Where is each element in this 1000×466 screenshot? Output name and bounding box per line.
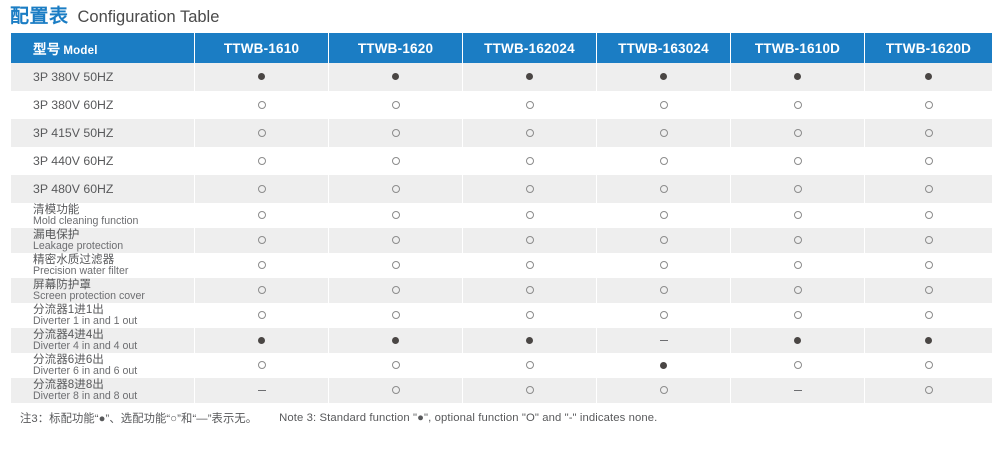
symbol-hollow-circle — [925, 185, 933, 193]
symbol-hollow-circle — [925, 211, 933, 219]
cell-hollow — [597, 147, 730, 175]
row-label: 3P 380V 60HZ — [11, 91, 194, 119]
cell-hollow — [195, 119, 328, 147]
symbol-hollow-circle — [258, 261, 266, 269]
row-label: 分流器4进4出Diverter 4 in and 4 out — [11, 328, 194, 353]
symbol-filled-circle — [925, 337, 932, 344]
column-header-model-cn: 型号 — [33, 42, 60, 57]
symbol-hollow-circle — [794, 236, 802, 244]
symbol-filled-circle — [526, 73, 533, 80]
cell-hollow — [731, 119, 864, 147]
symbol-hollow-circle — [660, 311, 668, 319]
cell-filled — [329, 63, 462, 91]
cell-hollow — [329, 353, 462, 378]
symbol-hollow-circle — [258, 101, 266, 109]
cell-filled — [731, 63, 864, 91]
column-header-model-2: TTWB-1620 — [329, 33, 462, 63]
cell-hollow — [731, 228, 864, 253]
row-label: 精密水质过滤器Precision water filter — [11, 253, 194, 278]
cell-hollow — [329, 91, 462, 119]
cell-hollow — [463, 228, 596, 253]
symbol-hollow-circle — [392, 261, 400, 269]
column-header-model-4: TTWB-163024 — [597, 33, 730, 63]
cell-hollow — [329, 278, 462, 303]
column-header-model-3: TTWB-162024 — [463, 33, 596, 63]
table-body: 3P 380V 50HZ3P 380V 60HZ3P 415V 50HZ3P 4… — [11, 63, 992, 403]
symbol-hollow-circle — [392, 236, 400, 244]
symbol-hollow-circle — [526, 101, 534, 109]
symbol-hollow-circle — [925, 261, 933, 269]
column-header-model: 型号Model — [11, 33, 194, 63]
symbol-dash — [258, 390, 266, 392]
row-label: 分流器8进8出Diverter 8 in and 8 out — [11, 378, 194, 403]
cell-hollow — [731, 253, 864, 278]
table-row: 分流器4进4出Diverter 4 in and 4 out — [11, 328, 992, 353]
cell-hollow — [865, 228, 992, 253]
symbol-hollow-circle — [258, 157, 266, 165]
symbol-filled-circle — [660, 362, 667, 369]
symbol-hollow-circle — [526, 286, 534, 294]
symbol-hollow-circle — [392, 157, 400, 165]
page-title-en: Configuration Table — [78, 9, 220, 26]
cell-hollow — [329, 253, 462, 278]
cell-hollow — [329, 303, 462, 328]
footnote: 注3：标配功能“●”、选配功能“○”和“—”表示无。 Note 3: Stand… — [10, 403, 990, 426]
row-label-en: Mold cleaning function — [33, 216, 194, 227]
table-row: 屏幕防护罩Screen protection cover — [11, 278, 992, 303]
symbol-hollow-circle — [526, 211, 534, 219]
cell-hollow — [463, 253, 596, 278]
cell-hollow — [865, 119, 992, 147]
symbol-hollow-circle — [660, 386, 668, 394]
cell-hollow — [195, 253, 328, 278]
cell-hollow — [463, 91, 596, 119]
row-label-en: Diverter 8 in and 8 out — [33, 391, 194, 402]
cell-hollow — [597, 119, 730, 147]
table-header-row: 型号Model TTWB-1610 TTWB-1620 TTWB-162024 … — [11, 33, 992, 63]
symbol-hollow-circle — [392, 185, 400, 193]
symbol-hollow-circle — [794, 361, 802, 369]
cell-filled — [195, 63, 328, 91]
cell-hollow — [463, 378, 596, 403]
symbol-hollow-circle — [526, 157, 534, 165]
table-row: 分流器8进8出Diverter 8 in and 8 out — [11, 378, 992, 403]
symbol-dash — [794, 390, 802, 392]
symbol-hollow-circle — [660, 286, 668, 294]
cell-hollow — [195, 147, 328, 175]
cell-hollow — [865, 203, 992, 228]
cell-filled — [463, 328, 596, 353]
cell-filled — [597, 353, 730, 378]
symbol-filled-circle — [794, 337, 801, 344]
table-header: 型号Model TTWB-1610 TTWB-1620 TTWB-162024 … — [11, 33, 992, 63]
symbol-hollow-circle — [526, 311, 534, 319]
symbol-hollow-circle — [794, 311, 802, 319]
cell-filled — [597, 63, 730, 91]
row-label-en: Diverter 1 in and 1 out — [33, 316, 194, 327]
symbol-hollow-circle — [392, 386, 400, 394]
symbol-hollow-circle — [392, 101, 400, 109]
cell-hollow — [865, 147, 992, 175]
symbol-hollow-circle — [392, 311, 400, 319]
symbol-hollow-circle — [794, 185, 802, 193]
cell-hollow — [329, 175, 462, 203]
symbol-hollow-circle — [925, 101, 933, 109]
row-label-en: Screen protection cover — [33, 291, 194, 302]
page-title: 配置表 Configuration Table — [10, 0, 990, 33]
cell-hollow — [865, 91, 992, 119]
symbol-hollow-circle — [392, 361, 400, 369]
symbol-hollow-circle — [925, 286, 933, 294]
cell-hollow — [865, 253, 992, 278]
symbol-hollow-circle — [660, 101, 668, 109]
symbol-hollow-circle — [794, 101, 802, 109]
cell-hollow — [731, 278, 864, 303]
cell-hollow — [731, 175, 864, 203]
symbol-hollow-circle — [660, 129, 668, 137]
cell-hollow — [329, 378, 462, 403]
symbol-filled-circle — [660, 73, 667, 80]
cell-hollow — [463, 147, 596, 175]
footnote-cn: 注3：标配功能“●”、选配功能“○”和“—”表示无。 — [20, 410, 257, 426]
cell-hollow — [195, 91, 328, 119]
symbol-hollow-circle — [925, 386, 933, 394]
symbol-filled-circle — [258, 73, 265, 80]
cell-hollow — [597, 253, 730, 278]
symbol-hollow-circle — [660, 211, 668, 219]
cell-hollow — [597, 378, 730, 403]
column-header-model-5: TTWB-1610D — [731, 33, 864, 63]
table-row: 清模功能Mold cleaning function — [11, 203, 992, 228]
cell-hollow — [731, 147, 864, 175]
cell-none — [195, 378, 328, 403]
symbol-filled-circle — [392, 337, 399, 344]
symbol-hollow-circle — [660, 185, 668, 193]
symbol-hollow-circle — [258, 361, 266, 369]
symbol-hollow-circle — [526, 185, 534, 193]
cell-hollow — [463, 175, 596, 203]
column-header-model-6: TTWB-1620D — [865, 33, 992, 63]
symbol-hollow-circle — [392, 286, 400, 294]
row-label-en: Diverter 6 in and 6 out — [33, 366, 194, 377]
cell-hollow — [731, 303, 864, 328]
symbol-hollow-circle — [526, 236, 534, 244]
cell-hollow — [731, 353, 864, 378]
table-row: 精密水质过滤器Precision water filter — [11, 253, 992, 278]
symbol-hollow-circle — [660, 261, 668, 269]
table-row: 分流器1进1出Diverter 1 in and 1 out — [11, 303, 992, 328]
row-label: 分流器6进6出Diverter 6 in and 6 out — [11, 353, 194, 378]
cell-filled — [731, 328, 864, 353]
table-row: 3P 480V 60HZ — [11, 175, 992, 203]
cell-hollow — [195, 203, 328, 228]
symbol-hollow-circle — [925, 236, 933, 244]
cell-hollow — [865, 303, 992, 328]
row-label: 3P 380V 50HZ — [11, 63, 194, 91]
cell-hollow — [195, 278, 328, 303]
table-row: 3P 380V 50HZ — [11, 63, 992, 91]
table-row: 分流器6进6出Diverter 6 in and 6 out — [11, 353, 992, 378]
symbol-hollow-circle — [925, 129, 933, 137]
symbol-hollow-circle — [392, 129, 400, 137]
symbol-hollow-circle — [526, 261, 534, 269]
symbol-hollow-circle — [660, 157, 668, 165]
column-header-model-1: TTWB-1610 — [195, 33, 328, 63]
symbol-hollow-circle — [526, 386, 534, 394]
cell-hollow — [463, 353, 596, 378]
cell-hollow — [597, 203, 730, 228]
row-label: 漏电保护Leakage protection — [11, 228, 194, 253]
configuration-table: 型号Model TTWB-1610 TTWB-1620 TTWB-162024 … — [10, 33, 993, 403]
symbol-hollow-circle — [526, 129, 534, 137]
cell-hollow — [195, 175, 328, 203]
row-label-en: Precision water filter — [33, 266, 194, 277]
symbol-dash — [660, 340, 668, 342]
symbol-hollow-circle — [258, 185, 266, 193]
cell-filled — [463, 63, 596, 91]
symbol-hollow-circle — [258, 311, 266, 319]
cell-hollow — [329, 228, 462, 253]
cell-hollow — [731, 203, 864, 228]
symbol-filled-circle — [925, 73, 932, 80]
row-label: 清模功能Mold cleaning function — [11, 203, 194, 228]
row-label-en: Diverter 4 in and 4 out — [33, 341, 194, 352]
symbol-hollow-circle — [794, 157, 802, 165]
symbol-hollow-circle — [794, 211, 802, 219]
symbol-hollow-circle — [925, 311, 933, 319]
cell-hollow — [463, 278, 596, 303]
symbol-hollow-circle — [794, 261, 802, 269]
page-title-cn: 配置表 — [10, 7, 69, 26]
symbol-filled-circle — [794, 73, 801, 80]
table-row: 3P 415V 50HZ — [11, 119, 992, 147]
cell-hollow — [329, 147, 462, 175]
cell-hollow — [597, 228, 730, 253]
symbol-hollow-circle — [526, 361, 534, 369]
cell-hollow — [865, 353, 992, 378]
cell-filled — [865, 63, 992, 91]
row-label: 分流器1进1出Diverter 1 in and 1 out — [11, 303, 194, 328]
cell-filled — [195, 328, 328, 353]
table-row: 漏电保护Leakage protection — [11, 228, 992, 253]
cell-hollow — [865, 378, 992, 403]
symbol-hollow-circle — [660, 236, 668, 244]
footnote-en: Note 3: Standard function "●", optional … — [279, 412, 657, 424]
symbol-hollow-circle — [258, 286, 266, 294]
cell-hollow — [597, 175, 730, 203]
symbol-hollow-circle — [925, 157, 933, 165]
cell-hollow — [731, 91, 864, 119]
cell-hollow — [597, 278, 730, 303]
row-label: 3P 440V 60HZ — [11, 147, 194, 175]
cell-hollow — [195, 228, 328, 253]
cell-filled — [865, 328, 992, 353]
cell-filled — [329, 328, 462, 353]
row-label: 屏幕防护罩Screen protection cover — [11, 278, 194, 303]
cell-hollow — [329, 119, 462, 147]
row-label: 3P 480V 60HZ — [11, 175, 194, 203]
symbol-hollow-circle — [794, 129, 802, 137]
table-row: 3P 380V 60HZ — [11, 91, 992, 119]
cell-hollow — [865, 278, 992, 303]
symbol-hollow-circle — [258, 236, 266, 244]
cell-hollow — [597, 303, 730, 328]
table-row: 3P 440V 60HZ — [11, 147, 992, 175]
cell-hollow — [865, 175, 992, 203]
symbol-hollow-circle — [258, 129, 266, 137]
cell-hollow — [463, 303, 596, 328]
cell-hollow — [329, 203, 462, 228]
row-label-en: Leakage protection — [33, 241, 194, 252]
row-label: 3P 415V 50HZ — [11, 119, 194, 147]
cell-hollow — [597, 91, 730, 119]
symbol-hollow-circle — [258, 211, 266, 219]
column-header-model-en: Model — [60, 45, 97, 57]
cell-none — [597, 328, 730, 353]
cell-hollow — [195, 353, 328, 378]
cell-hollow — [463, 203, 596, 228]
cell-hollow — [195, 303, 328, 328]
cell-hollow — [463, 119, 596, 147]
cell-none — [731, 378, 864, 403]
symbol-hollow-circle — [925, 361, 933, 369]
symbol-filled-circle — [258, 337, 265, 344]
symbol-filled-circle — [526, 337, 533, 344]
symbol-hollow-circle — [392, 211, 400, 219]
symbol-hollow-circle — [794, 286, 802, 294]
configuration-table-page: 配置表 Configuration Table 型号Model TTWB-161… — [0, 0, 1000, 466]
symbol-filled-circle — [392, 73, 399, 80]
